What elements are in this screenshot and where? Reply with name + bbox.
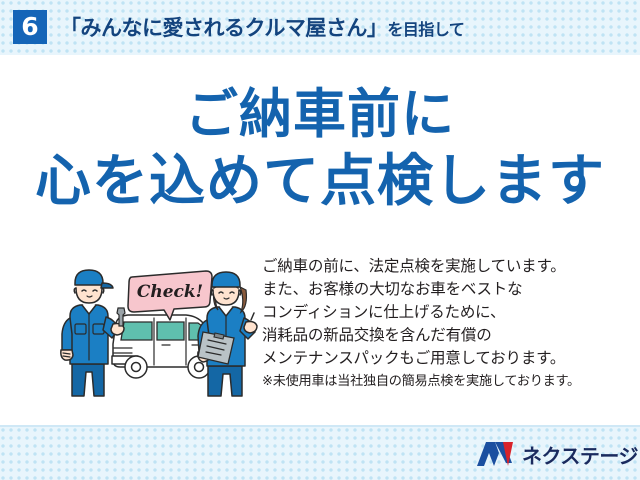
headline-line-2: 心を込めて点検します (0, 148, 640, 216)
page-title: ご納車前に 心を込めて点検します (0, 83, 640, 216)
header-title-main: 「みんなに愛されるクルマ屋さん」 (60, 16, 387, 40)
advertisement-page: 6 「みんなに愛されるクルマ屋さん」を目指して ご納車前に 心を込めて点検します… (0, 0, 640, 480)
main-content: ご納車前に 心を込めて点検します ご納車の前に、法定点検を実施しています。 また… (0, 55, 640, 425)
header-title-suffix: を目指して (387, 20, 464, 39)
nextage-n-mark-icon (476, 441, 514, 467)
check-speech-bubble: Check! (128, 271, 212, 320)
body-line: また、お客様の大切なお車をベストな (262, 278, 622, 301)
headline-line-1: ご納車前に (0, 83, 640, 148)
header-title: 「みんなに愛されるクルマ屋さん」を目指して (60, 12, 464, 42)
brand-logo: ネクステージ (476, 437, 638, 471)
mechanics-illustration: .ln { fill:none; stroke:#2b2b2b; stroke-… (58, 260, 263, 400)
body-line: 消耗品の新品交換を含んだ有償の (262, 324, 622, 347)
header: 6 「みんなに愛されるクルマ屋さん」を目指して (0, 0, 640, 53)
section-number-badge: 6 (13, 10, 47, 44)
body-line: ご納車の前に、法定点検を実施しています。 (262, 255, 622, 278)
body-line: コンディションに仕上げるために、 (262, 301, 622, 324)
body-copy: ご納車の前に、法定点検を実施しています。 また、お客様の大切なお車をベストな コ… (262, 255, 622, 391)
body-footnote: ※未使用車は当社独自の簡易点検を実施しております。 (262, 372, 622, 392)
brand-name: ネクステージ (522, 440, 638, 469)
body-line: メンテナンスパックもご用意しております。 (262, 347, 622, 370)
mechanic-male-figure (61, 270, 125, 396)
speech-bubble-text: Check! (137, 282, 203, 302)
